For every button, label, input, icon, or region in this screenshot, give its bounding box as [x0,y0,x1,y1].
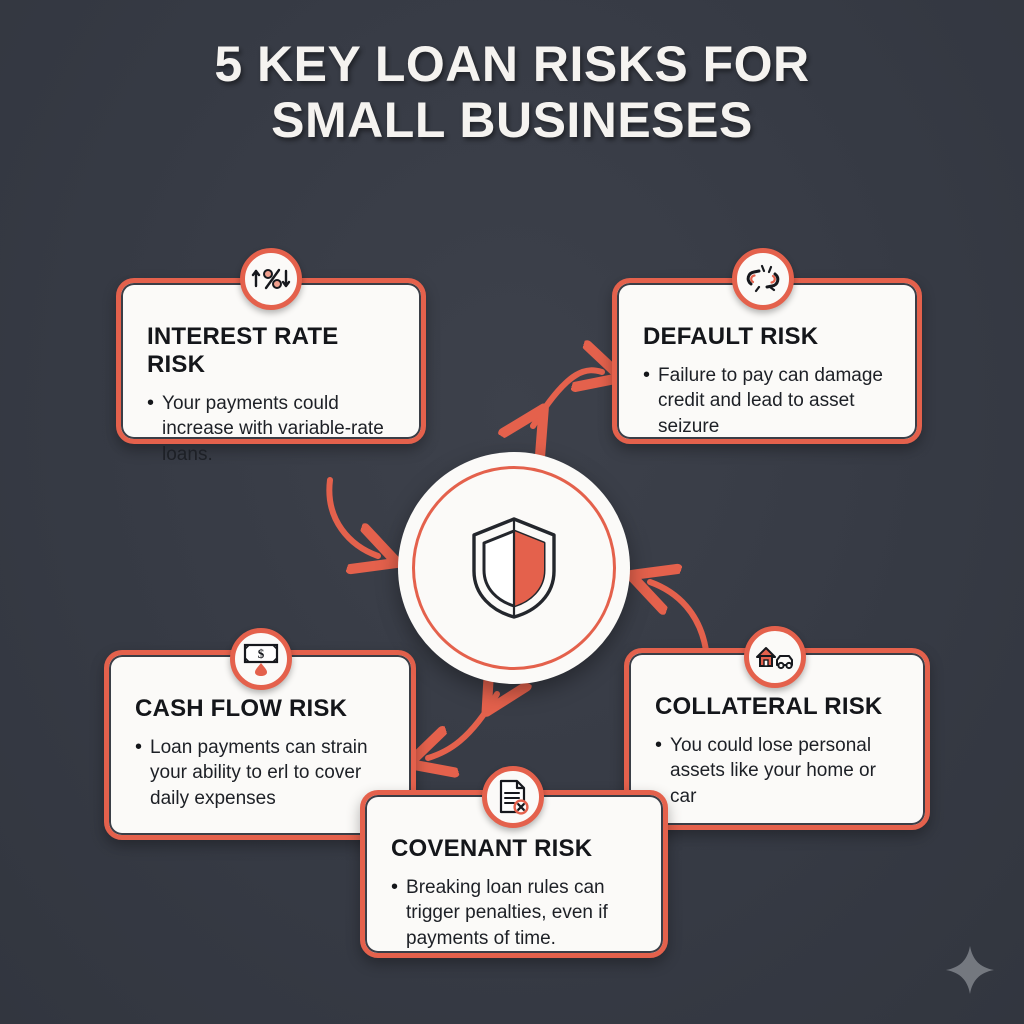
card-body: Breaking loan rules can trigger penaltie… [406,875,637,951]
card-title: COLLATERAL RISK [655,693,899,721]
card-bullet: • Loan payments can strain your ability … [135,735,385,811]
bullet-dot: • [391,875,398,900]
card-title: DEFAULT RISK [643,323,891,351]
card-body: Loan payments can strain your ability to… [150,735,385,811]
card-bullet: • You could lose personal assets like yo… [655,733,899,809]
sparkle-icon [944,944,996,996]
page-title: 5 KEY LOAN RISKS FOR SMALL BUSINESES [0,36,1024,148]
infographic-canvas: 5 KEY LOAN RISKS FOR SMALL BUSINESES [0,0,1024,1024]
page-title-line-2: SMALL BUSINESES [120,92,904,148]
card-body: Failure to pay can damage credit and lea… [658,363,891,439]
bullet-dot: • [643,363,650,388]
svg-text:$: $ [258,646,265,661]
arrow-hub-to-default [533,370,602,426]
arrow-collateral-to-hub [650,582,706,650]
card-bullet: • Failure to pay can damage credit and l… [643,363,891,439]
document-x-icon [482,766,544,828]
shield-icon [466,513,562,623]
card-title: CASH FLOW RISK [135,695,385,723]
bullet-dot: • [655,733,662,758]
center-hub [398,452,630,684]
bullet-dot: • [147,391,154,416]
card-title: COVENANT RISK [391,835,637,863]
card-body: Your payments could increase with variab… [162,391,395,467]
card-bullet: • Breaking loan rules can trigger penalt… [391,875,637,951]
card-title: INTEREST RATE RISK [147,323,395,379]
arrow-hub-to-cashflow [428,694,497,758]
broken-chain-icon [732,248,794,310]
arrow-interest-to-hub [329,480,378,556]
house-car-icon [744,626,806,688]
bullet-dot: • [135,735,142,760]
banknote-drip-icon: $ [230,628,292,690]
page-title-line-1: 5 KEY LOAN RISKS FOR [120,36,904,92]
card-body: You could lose personal assets like your… [670,733,899,809]
percent-arrows-icon [240,248,302,310]
card-bullet: • Your payments could increase with vari… [147,391,395,467]
